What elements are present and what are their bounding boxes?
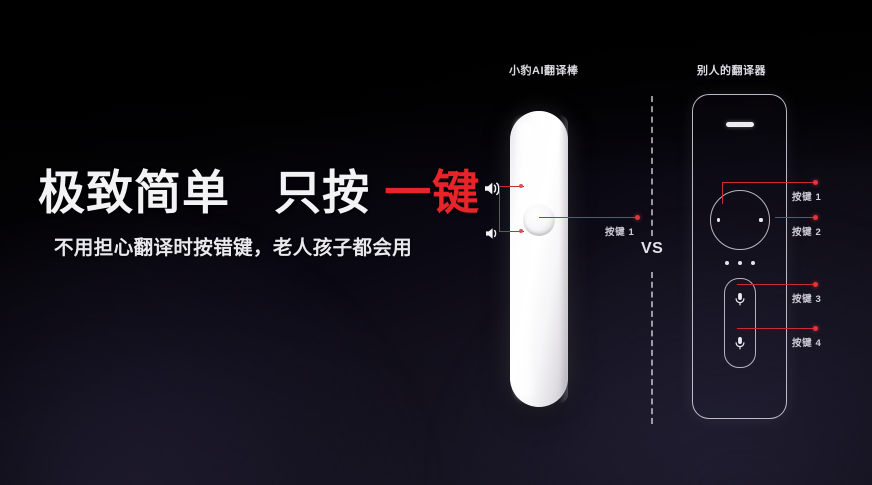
right-callout-label-3: 按键 3	[792, 291, 821, 305]
right-product-caption: 别人的翻译器	[697, 62, 766, 78]
left-callout-line-button	[539, 217, 639, 218]
left-callout-dot-speaker-up	[519, 184, 523, 188]
left-callout-bracket	[499, 186, 500, 232]
microphone-icon-bottom	[734, 336, 745, 352]
right-callout-line-3	[737, 284, 817, 285]
divider-dashed-bottom	[651, 272, 653, 424]
right-callout-label-2: 按键 2	[792, 224, 821, 238]
right-callout-dot-2	[813, 215, 818, 220]
left-callout-label-button: 按键 1	[605, 224, 634, 238]
subtitle: 不用担心翻译时按错键，老人孩子都会用	[54, 231, 468, 260]
status-dot-1	[725, 261, 729, 265]
right-callout-line-2	[775, 217, 817, 218]
right-callout-label-4: 按键 4	[792, 335, 821, 349]
right-callout-dot-3	[813, 282, 818, 287]
right-callout-line-4	[737, 328, 817, 329]
right-callout-dot-4	[813, 326, 818, 331]
status-dots	[725, 261, 755, 265]
status-dot-3	[751, 261, 755, 265]
status-dot-2	[738, 261, 742, 265]
dpad-dot-right	[759, 218, 762, 221]
right-callout-label-1: 按键 1	[792, 189, 821, 203]
device-single-button[interactable]	[523, 204, 555, 236]
speaker-slot-icon	[726, 122, 754, 127]
divider-dashed-top	[651, 96, 653, 236]
headline-block: 极致简单 只按 一键 不用担心翻译时按错键，老人孩子都会用	[38, 168, 468, 260]
left-product-device	[510, 111, 568, 407]
right-product-device	[692, 94, 787, 419]
dpad-dot-left	[717, 218, 720, 221]
microphone-icon-top	[734, 292, 745, 308]
right-callout-line-1	[722, 182, 817, 183]
left-callout-dot-button	[635, 215, 640, 220]
headline-part-one: 极致简单	[38, 166, 230, 219]
mic-button-pill[interactable]	[724, 278, 756, 368]
right-callout-elbow-1	[722, 182, 723, 204]
device-highlight	[516, 119, 532, 399]
headline-part-two: 只按	[274, 166, 370, 219]
vs-label: VS	[641, 240, 663, 258]
headline-accent: 一键	[384, 166, 480, 219]
device-edge-shading	[559, 115, 568, 403]
left-product-caption: 小豹AI翻译棒	[509, 62, 579, 78]
right-callout-dot-1	[813, 180, 818, 185]
dpad-ring-icon[interactable]	[710, 190, 770, 250]
left-callout-dot-speaker-down	[519, 229, 523, 233]
slide-canvas: 极致简单 只按 一键 不用担心翻译时按错键，老人孩子都会用 小豹AI翻译棒 别人…	[0, 0, 872, 485]
page-title: 极致简单 只按 一键	[38, 168, 468, 218]
